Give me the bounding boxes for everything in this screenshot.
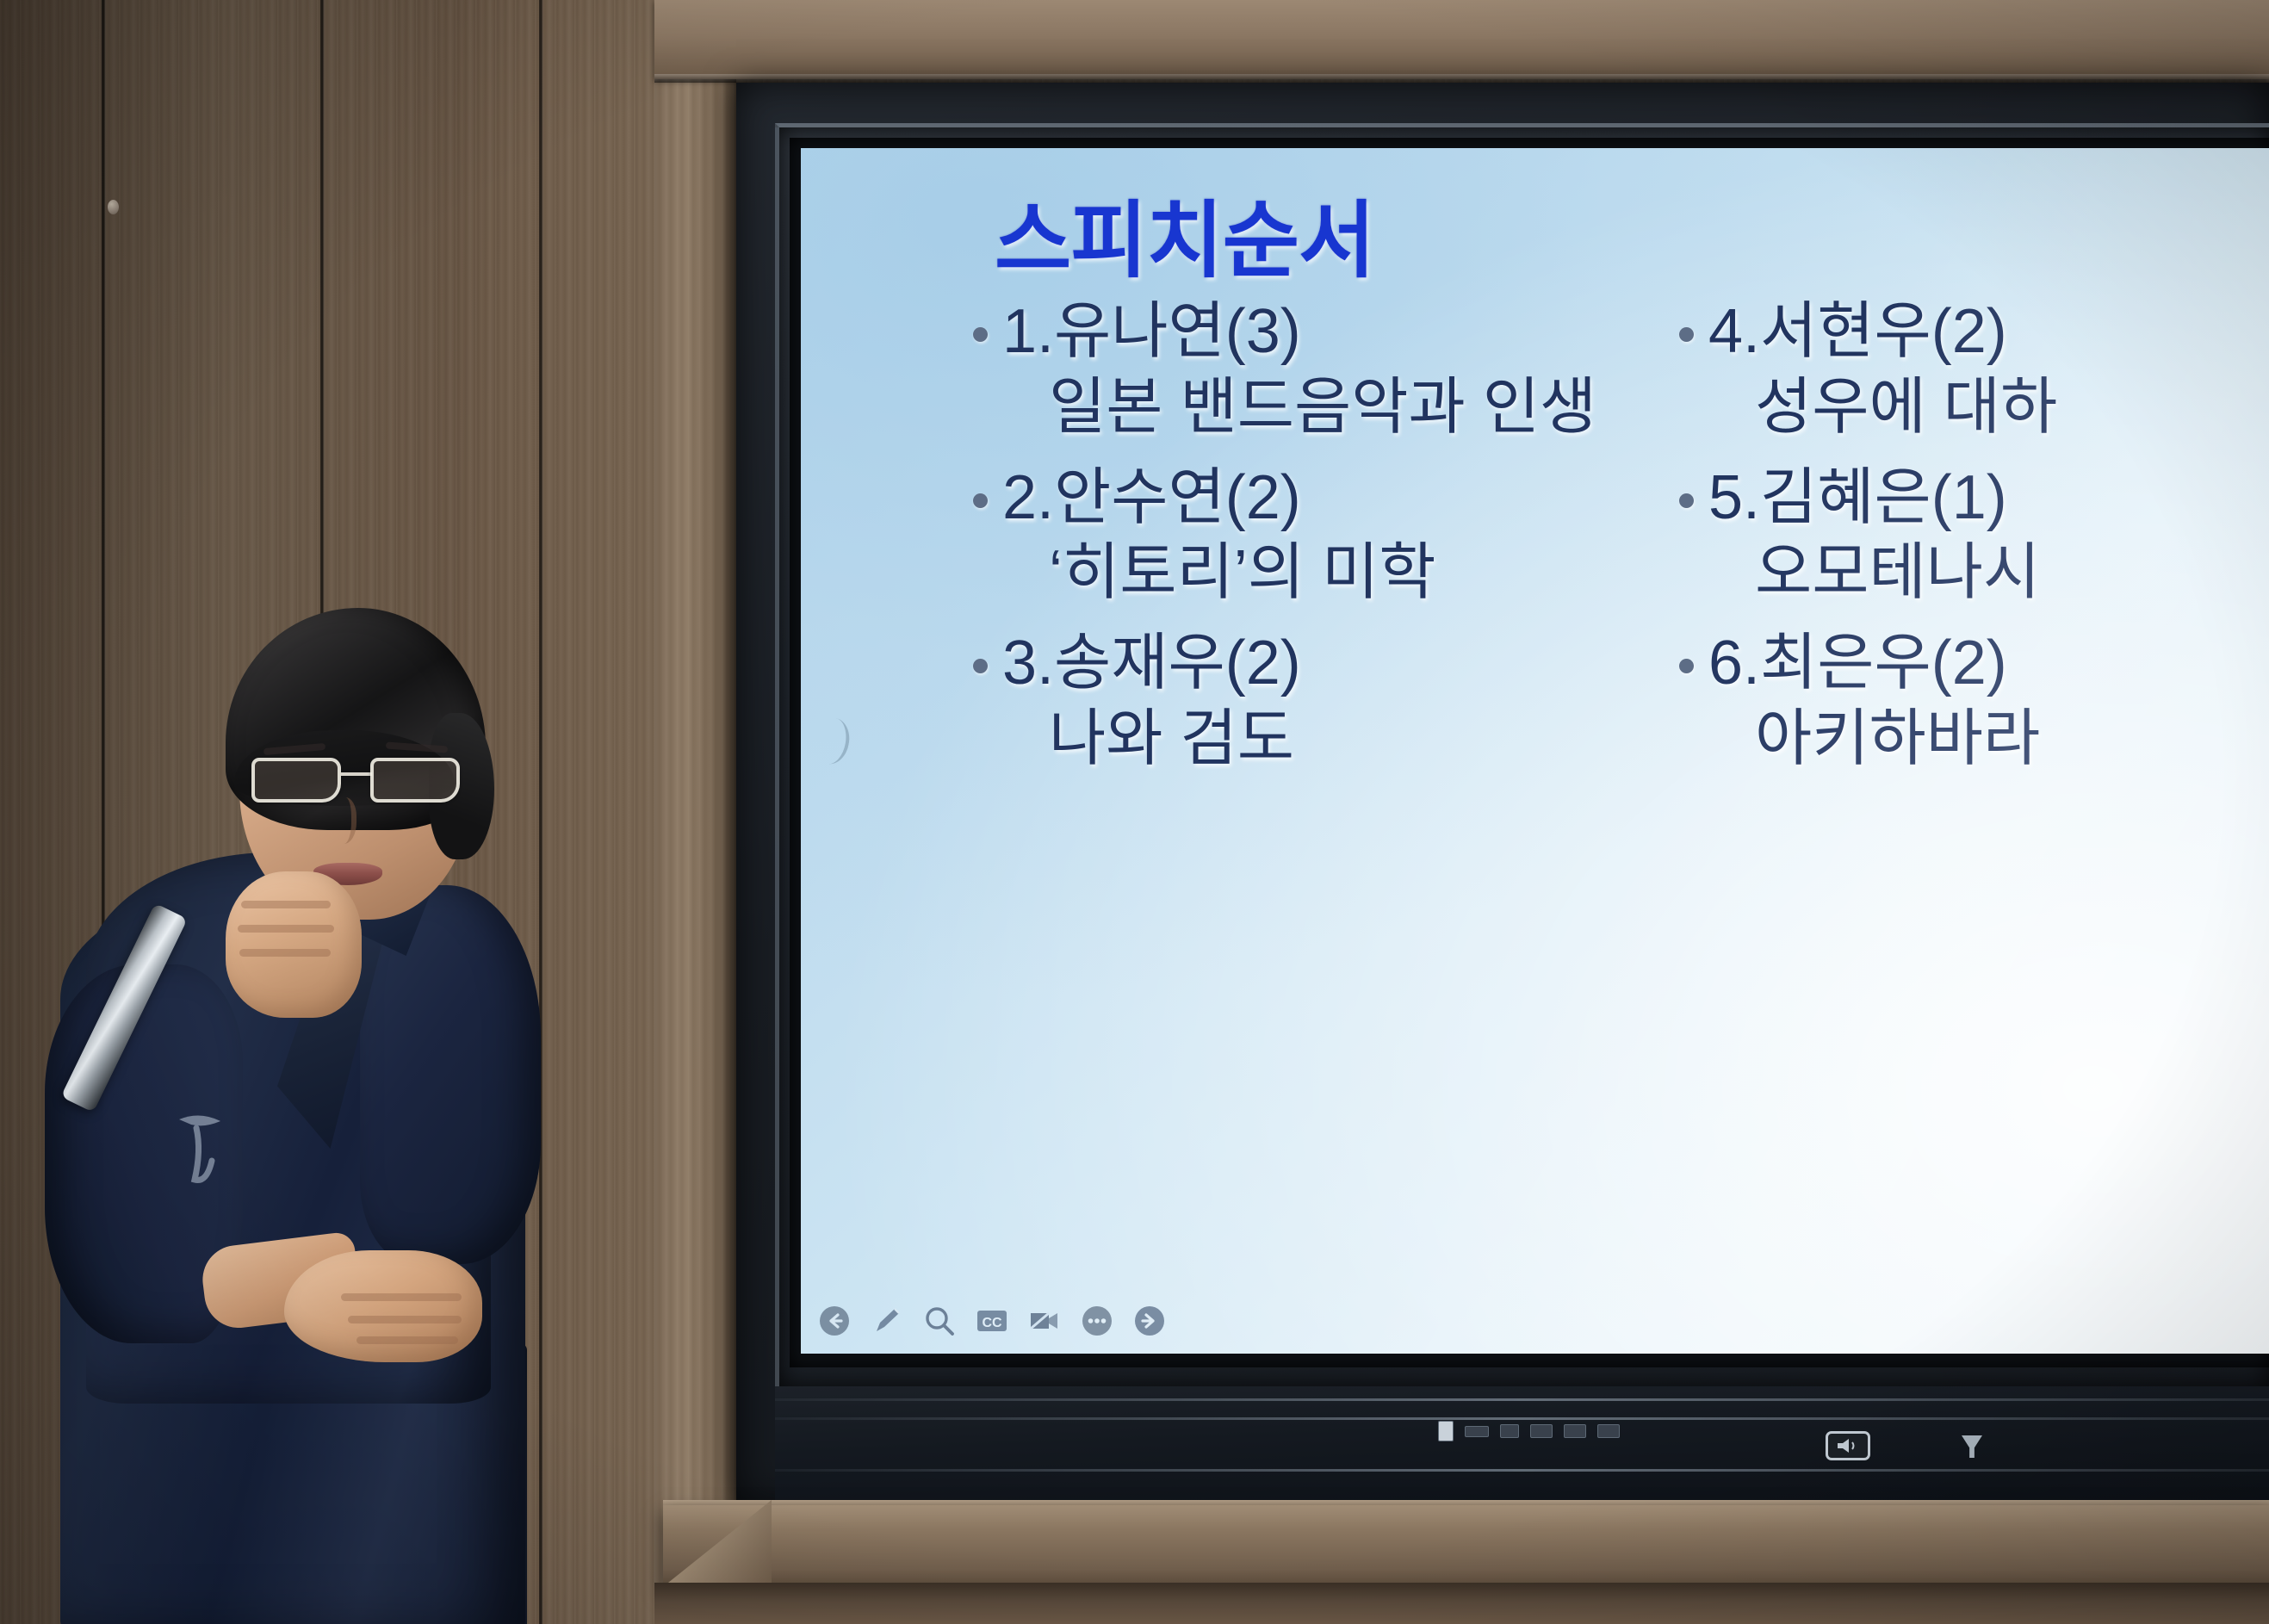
bullet-heading: 3.송재우(2) [1002, 626, 1301, 702]
bullet-heading-row: 6.최은우(2) [1679, 626, 2269, 702]
bullet-subtitle: 성우에 대하 [1679, 370, 2269, 446]
surround-left-jamb [654, 0, 736, 1624]
bullet-dot-icon [973, 659, 988, 673]
bullet-heading: 5.김혜은(1) [1708, 461, 2007, 536]
presenter-glasses [250, 754, 470, 811]
svg-text:CC: CC [982, 1316, 1002, 1330]
magnifier-icon[interactable] [922, 1304, 957, 1338]
audio-port [1530, 1424, 1553, 1438]
finger [238, 925, 334, 933]
display-bottom-bezel: PANELSMART [775, 1386, 2269, 1505]
bullet-subtitle: 오모테나시 [1679, 536, 2269, 611]
bullet-dot-icon [973, 327, 988, 342]
powerpoint-slide[interactable]: 스피치순서 1.유나연(3) 일본 밴드음악과 인생 2.안수연(2) [801, 148, 2269, 1354]
presenter-nose [329, 797, 356, 844]
presentation-toolbar: CC [817, 1304, 1167, 1338]
list-item: 4.서현우(2) 성우에 대하 [1679, 294, 2269, 446]
bullet-dot-icon [1679, 493, 1694, 508]
bullet-heading: 1.유나연(3) [1002, 294, 1301, 370]
bullet-dot-icon [1679, 327, 1694, 342]
usb-port [1438, 1421, 1454, 1441]
camera-off-icon[interactable] [1027, 1304, 1062, 1338]
slide-column-left: 1.유나연(3) 일본 밴드음악과 인생 2.안수연(2) ‘히토리’의 미학 … [973, 294, 1653, 792]
finger [356, 1336, 458, 1344]
surround-top-lintel [654, 0, 2269, 79]
screen-smudge [816, 716, 853, 766]
finger [341, 1293, 462, 1301]
arrow-left-circle-icon[interactable] [817, 1304, 852, 1338]
presentation-room-scene: 스피치순서 1.유나연(3) 일본 밴드음악과 인생 2.안수연(2) [0, 0, 2269, 1624]
list-item: 6.최은우(2) 아키하바라 [1679, 626, 2269, 778]
cc-icon[interactable]: CC [975, 1304, 1009, 1338]
glasses-lens-left [251, 758, 341, 803]
bullet-dot-icon [1679, 659, 1694, 673]
bullet-subtitle: ‘히토리’의 미학 [973, 536, 1653, 611]
display-port-panel [1438, 1421, 1620, 1441]
speaker-icon [1826, 1431, 1870, 1460]
lan-port [1564, 1424, 1586, 1438]
bullet-heading-row: 4.서현우(2) [1679, 294, 2269, 370]
rs232-port [1597, 1424, 1620, 1438]
display-wood-sill [663, 1505, 2269, 1588]
glasses-lens-right [370, 758, 460, 803]
wall-below-sill [654, 1583, 2269, 1624]
ellipsis-icon[interactable] [1080, 1304, 1114, 1338]
list-item: 1.유나연(3) 일본 밴드음악과 인생 [973, 294, 1653, 446]
finger [348, 1316, 462, 1323]
presenter-resting-hand [284, 1250, 482, 1362]
vga-port [1500, 1424, 1519, 1438]
presenter-hand-holding-mic [226, 871, 362, 1018]
bezel-groove [775, 1469, 2269, 1472]
list-item: 3.송재우(2) 나와 검도 [973, 626, 1653, 778]
bullet-dot-icon [973, 493, 988, 508]
finger [241, 901, 331, 908]
presenter-figure [0, 0, 654, 1624]
uniform-emblem-icon [170, 1109, 232, 1192]
pen-icon[interactable] [870, 1304, 904, 1338]
arrow-right-circle-icon[interactable] [1132, 1304, 1167, 1338]
bullet-heading: 6.최은우(2) [1708, 626, 2007, 702]
bullet-subtitle: 일본 밴드음악과 인생 [973, 370, 1653, 446]
bezel-groove [775, 1417, 2269, 1420]
bullet-heading: 2.안수연(2) [1002, 461, 1301, 536]
bullet-heading-row: 1.유나연(3) [973, 294, 1653, 370]
ir-sensor-icon [1962, 1435, 1982, 1458]
surround-lintel-edge [654, 74, 2269, 83]
list-item: 5.김혜은(1) 오모테나시 [1679, 461, 2269, 612]
hdmi-port [1465, 1426, 1489, 1437]
slide-title: 스피치순서 [995, 172, 1374, 294]
bullet-subtitle: 아키하바라 [1679, 702, 2269, 778]
slide-column-right: 4.서현우(2) 성우에 대하 5.김혜은(1) 오모테나시 6.최은우(2) [1679, 294, 2269, 792]
bullet-heading: 4.서현우(2) [1708, 294, 2007, 370]
bullet-subtitle: 나와 검도 [973, 702, 1653, 778]
list-item: 2.안수연(2) ‘히토리’의 미학 [973, 461, 1653, 612]
bullet-heading-row: 5.김혜은(1) [1679, 461, 2269, 536]
finger [239, 949, 331, 957]
bezel-groove [775, 1398, 2269, 1401]
glasses-bridge [341, 772, 372, 776]
bullet-heading-row: 3.송재우(2) [973, 626, 1653, 702]
bullet-heading-row: 2.안수연(2) [973, 461, 1653, 536]
